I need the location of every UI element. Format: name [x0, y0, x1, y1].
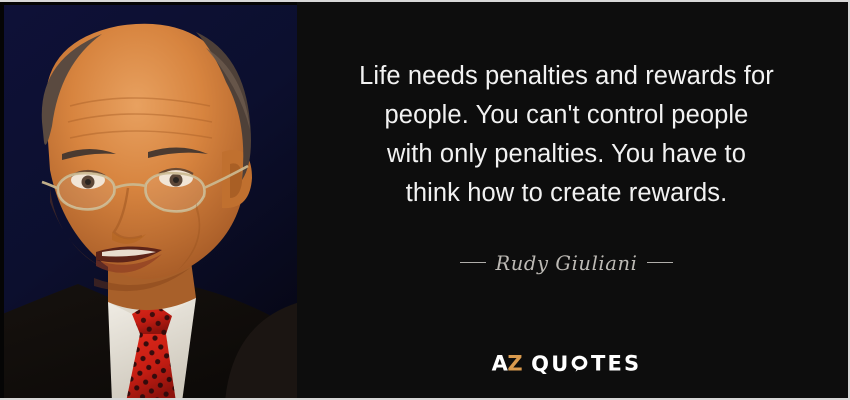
- dash-right-icon: [647, 262, 673, 263]
- quote-content-area: Life needs penalties and rewards for peo…: [297, 2, 848, 398]
- author-name[interactable]: Rudy Giuliani: [495, 252, 637, 275]
- quote-attribution: Rudy Giuliani: [297, 250, 836, 278]
- quote-card: Life needs penalties and rewards for peo…: [0, 0, 850, 400]
- quote-line-2: people. You can't control people: [315, 96, 818, 135]
- author-portrait-photo: [0, 2, 297, 400]
- quote-line-4: think how to create rewards.: [315, 174, 818, 213]
- logo-quotes-prefix: QU: [531, 352, 570, 376]
- logo-quotes-suffix: TES: [591, 352, 641, 376]
- quote-text: Life needs penalties and rewards for peo…: [297, 57, 836, 213]
- azquotes-logo[interactable]: AZQU TES: [297, 352, 836, 375]
- logo-letter-z: Z: [507, 352, 522, 376]
- portrait-illustration: [0, 2, 297, 400]
- logo-wordmark: AZQU TES: [492, 352, 642, 375]
- quote-line-1: Life needs penalties and rewards for: [315, 57, 818, 96]
- logo-letter-a: A: [492, 352, 508, 376]
- dash-left-icon: [460, 262, 486, 263]
- speech-bubble-o-icon: [571, 355, 588, 372]
- quote-line-3: with only penalties. You have to: [315, 135, 818, 174]
